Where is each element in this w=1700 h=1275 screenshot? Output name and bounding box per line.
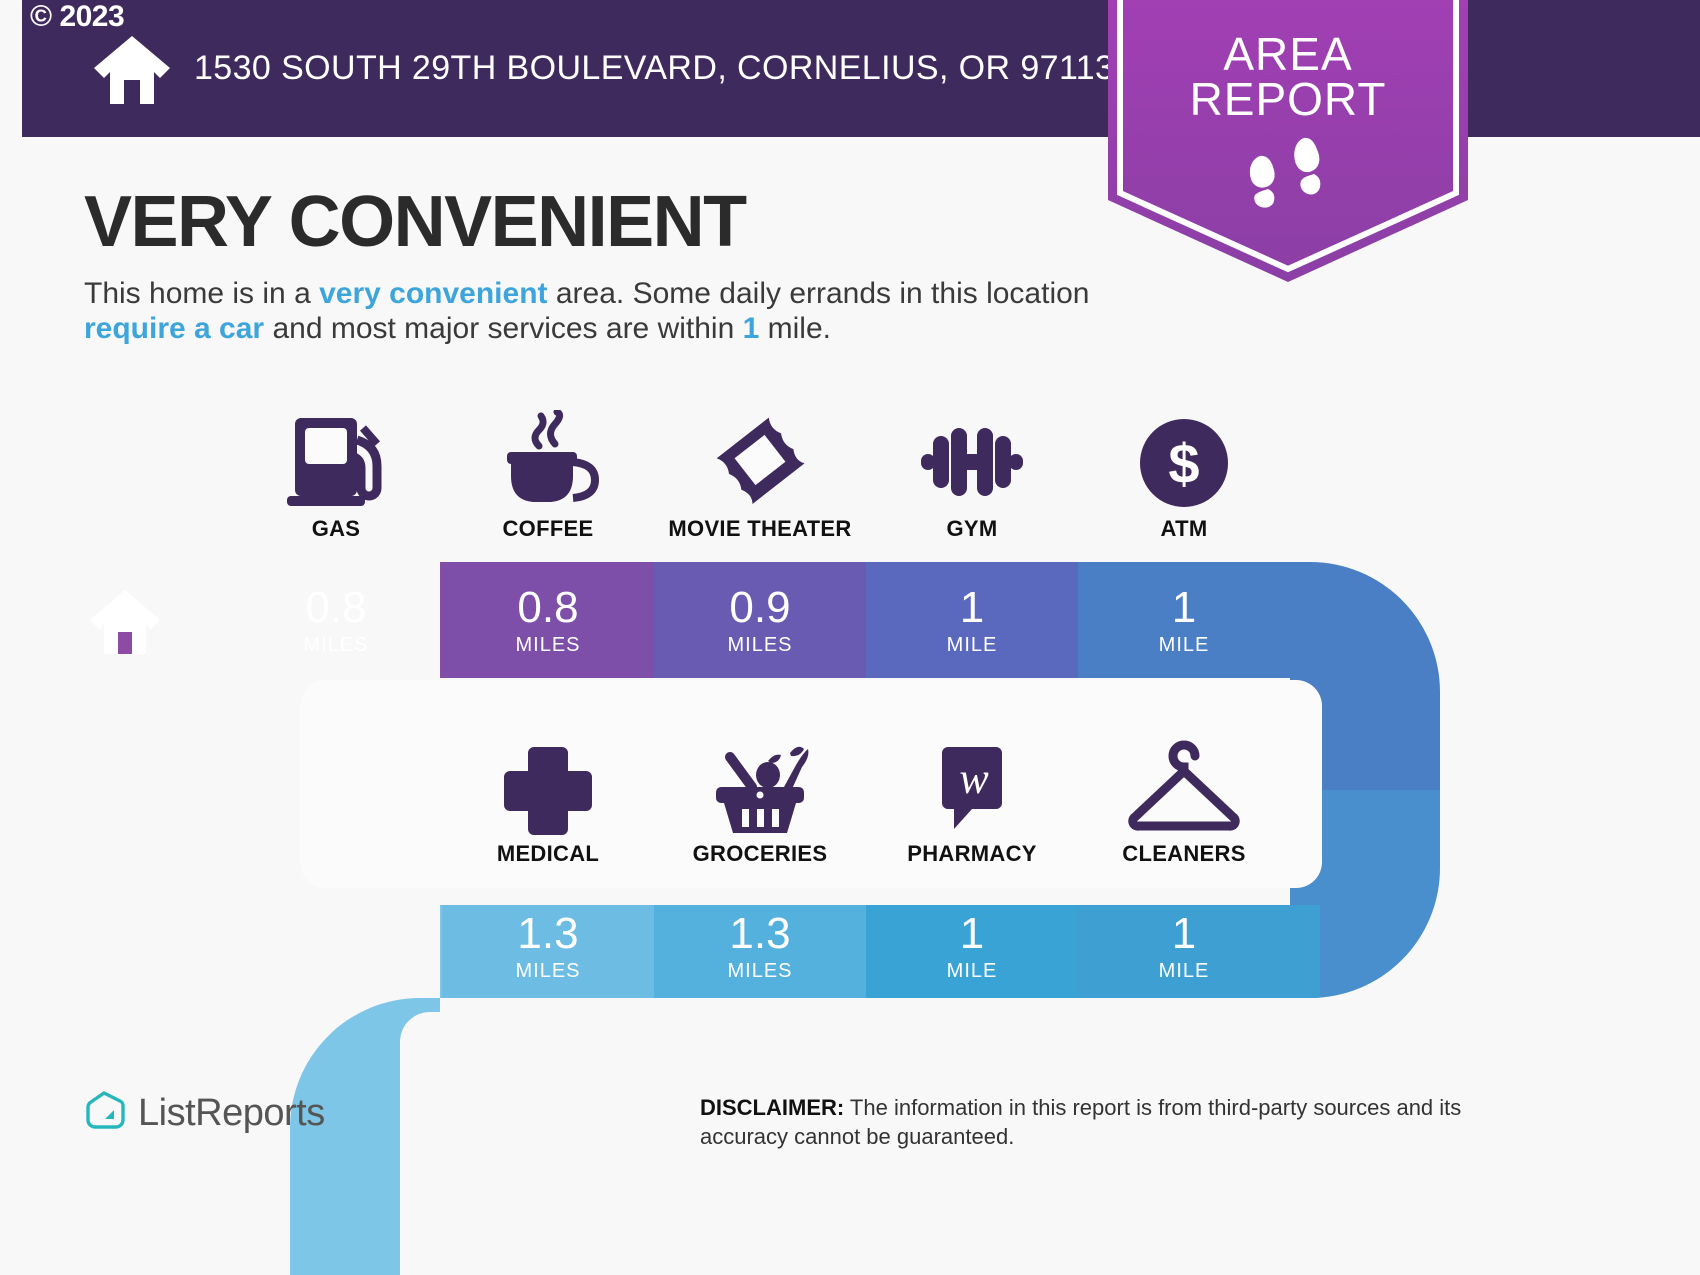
gas-pump-icon xyxy=(236,410,436,510)
home-marker-icon xyxy=(88,588,162,661)
distance-unit: MILE xyxy=(872,634,1072,657)
movie-ticket-icon xyxy=(660,410,860,510)
distance-medical: 1.3 MILES xyxy=(448,912,648,983)
distance-value: 1.3 xyxy=(448,912,648,956)
distance-gym: 1 MILE xyxy=(872,586,1072,657)
amenity-label: ATM xyxy=(1084,516,1284,542)
summary-highlight-1: very convenient xyxy=(319,277,547,310)
distance-groceries: 1.3 MILES xyxy=(660,912,860,983)
distance-value: 0.9 xyxy=(660,586,860,630)
summary-highlight-3: 1 xyxy=(743,312,760,345)
summary-part-4: mile. xyxy=(759,312,831,345)
amenity-movie-theater: MOVIE THEATER xyxy=(660,410,860,542)
amenity-medical: MEDICAL xyxy=(448,735,648,867)
summary-part-3: and most major services are within xyxy=(264,312,743,345)
distance-pharmacy: 1 MILE xyxy=(872,912,1072,983)
page-title: VERY CONVENIENT xyxy=(84,186,746,258)
distance-value: 0.8 xyxy=(448,586,648,630)
disclaimer: DISCLAIMER: The information in this repo… xyxy=(700,1093,1490,1151)
distance-unit: MILES xyxy=(236,634,436,657)
amenity-gym: GYM xyxy=(872,410,1072,542)
listreports-house-tag-icon xyxy=(84,1090,126,1137)
distance-unit: MILES xyxy=(660,960,860,983)
amenity-atm: $ ATM xyxy=(1084,410,1284,542)
distance-unit: MILES xyxy=(448,634,648,657)
distance-cleaners: 1 MILE xyxy=(1084,912,1284,983)
area-report-badge: AREA REPORT xyxy=(1108,0,1468,290)
disclaimer-label: DISCLAIMER: xyxy=(700,1095,844,1120)
walgreens-pharmacy-icon: w xyxy=(872,735,1072,835)
amenity-label: GAS xyxy=(236,516,436,542)
distance-coffee: 0.8 MILES xyxy=(448,586,648,657)
dollar-circle-icon: $ xyxy=(1084,410,1284,510)
dumbbell-icon xyxy=(872,410,1072,510)
amenity-coffee: COFFEE xyxy=(448,410,648,542)
amenity-gas: GAS xyxy=(236,410,436,542)
summary-part-1: This home is in a xyxy=(84,277,319,310)
listreports-logo[interactable]: ListReports xyxy=(84,1090,325,1137)
amenity-label: CLEANERS xyxy=(1084,841,1284,867)
amenity-pharmacy: w PHARMACY xyxy=(872,735,1072,867)
distance-atm: 1 MILE xyxy=(1084,586,1284,657)
svg-text:w: w xyxy=(959,754,989,803)
distance-value: 1 xyxy=(872,586,1072,630)
distance-unit: MILE xyxy=(1084,634,1284,657)
clothes-hanger-icon xyxy=(1084,735,1284,835)
grocery-basket-icon xyxy=(660,735,860,835)
amenity-label: COFFEE xyxy=(448,516,648,542)
summary-highlight-2: require a car xyxy=(84,312,264,345)
home-icon xyxy=(92,34,172,111)
distance-value: 1 xyxy=(872,912,1072,956)
amenity-label: PHARMACY xyxy=(872,841,1072,867)
amenity-label: GROCERIES xyxy=(660,841,860,867)
distance-gas: 0.8 MILES xyxy=(236,586,436,657)
distance-value: 1.3 xyxy=(660,912,860,956)
amenity-label: GYM xyxy=(872,516,1072,542)
distance-value: 1 xyxy=(1084,586,1284,630)
listreports-wordmark: ListReports xyxy=(138,1092,325,1135)
distance-unit: MILES xyxy=(660,634,860,657)
coffee-cup-icon xyxy=(448,410,648,510)
distance-unit: MILE xyxy=(872,960,1072,983)
distance-unit: MILE xyxy=(1084,960,1284,983)
distance-value: 0.8 xyxy=(236,586,436,630)
svg-text:$: $ xyxy=(1168,432,1199,495)
distance-unit: MILES xyxy=(448,960,648,983)
medical-cross-icon xyxy=(448,735,648,835)
distance-value: 1 xyxy=(1084,912,1284,956)
property-address: 1530 SOUTH 29TH BOULEVARD, CORNELIUS, OR… xyxy=(194,49,1114,88)
amenity-label: MEDICAL xyxy=(448,841,648,867)
summary-part-2: area. Some daily errands in this locatio… xyxy=(548,277,1090,310)
distance-movie-theater: 0.9 MILES xyxy=(660,586,860,657)
amenity-groceries: GROCERIES xyxy=(660,735,860,867)
amenity-cleaners: CLEANERS xyxy=(1084,735,1284,867)
copyright-label: © 2023 xyxy=(30,2,124,32)
amenity-label: MOVIE THEATER xyxy=(660,516,860,542)
summary-paragraph: This home is in a very convenient area. … xyxy=(84,276,1094,346)
